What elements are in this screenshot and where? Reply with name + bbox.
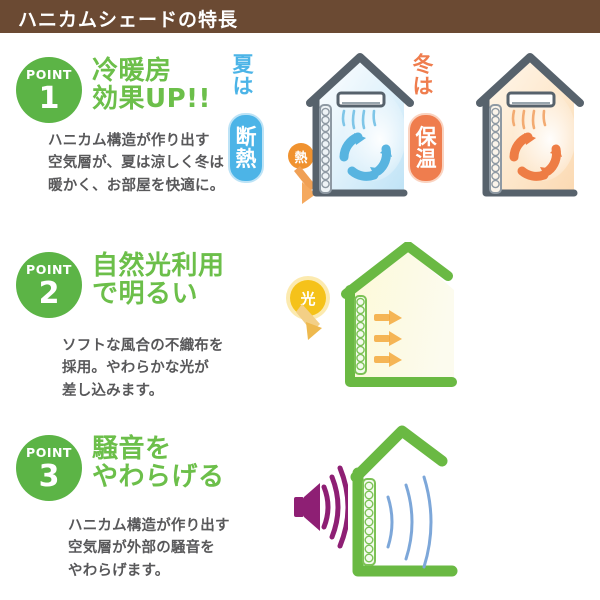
- insulation-pill: 断 熱: [228, 113, 264, 183]
- warmth-pill: 保 温: [408, 113, 444, 183]
- point-badge-2: POINT 2: [16, 252, 82, 318]
- point-section-2: POINT 2 自然光利用 で明るい ソフトな風合の不織布を 採用。やわらかな光…: [0, 240, 600, 425]
- point-headline-2: 自然光利用 で明るい: [92, 252, 225, 308]
- speaker-icon: [288, 435, 348, 575]
- infographic-page: ハニカムシェードの特長 POINT 1 冷暖房 効果UP!! ハニカム構造が作り…: [0, 0, 600, 600]
- body-line: 空気層が外部の騒音を: [68, 537, 230, 559]
- pill-char: 保: [416, 126, 437, 148]
- winter-label: 冬は: [411, 53, 433, 97]
- point-badge-1: POINT 1: [16, 57, 82, 123]
- summer-house: [300, 53, 420, 201]
- headline-line: で明るい: [92, 280, 225, 308]
- point-badge-number: 3: [16, 462, 82, 492]
- body-line: 採用。やわらかな光が: [62, 357, 224, 379]
- body-line: ハニカム構造が作り出す: [68, 515, 230, 537]
- headline-line: 冷暖房: [92, 57, 211, 85]
- point-badge-word: POINT: [16, 447, 82, 460]
- green-outline-house-noise: [340, 425, 490, 595]
- diffused-light-arrows: [374, 310, 402, 367]
- green-outline-house-light: [330, 242, 480, 402]
- point-badge-number: 1: [16, 84, 82, 114]
- body-line: 空気層が、夏は涼しく冬は: [48, 152, 224, 174]
- headline-line: 効果UP!!: [92, 85, 211, 113]
- point-badge-word: POINT: [16, 69, 82, 82]
- point-badge-number: 2: [16, 279, 82, 309]
- point-headline-3: 騒音を やわらげる: [92, 435, 225, 491]
- pill-char: 温: [416, 148, 437, 170]
- point-body-3: ハニカム構造が作り出す 空気層が外部の騒音を やわらげます。: [68, 515, 230, 582]
- point-badge-word: POINT: [16, 264, 82, 277]
- point-badge-3: POINT 3: [16, 435, 82, 501]
- body-line: 暖かく、お部屋を快適に。: [48, 175, 224, 197]
- headline-line: 騒音を: [92, 435, 225, 463]
- point-body-2: ソフトな風合の不織布を 採用。やわらかな光が 差し込みます。: [62, 335, 224, 402]
- muffled-noise-waves: [388, 477, 431, 567]
- point-body-1: ハニカム構造が作り出す 空気層が、夏は涼しく冬は 暖かく、お部屋を快適に。: [48, 130, 224, 197]
- winter-house: [470, 53, 590, 201]
- headline-line: やわらげる: [92, 463, 225, 491]
- point-headline-1: 冷暖房 効果UP!!: [92, 57, 211, 113]
- headline-line: 自然光利用: [92, 252, 225, 280]
- body-line: ソフトな風合の不織布を: [62, 335, 224, 357]
- pill-char: 断: [236, 126, 257, 148]
- body-line: 差し込みます。: [62, 380, 224, 402]
- summer-label: 夏は: [231, 53, 253, 97]
- page-title: ハニカムシェードの特長: [18, 5, 238, 32]
- body-line: やわらげます。: [68, 560, 230, 582]
- point-section-3: POINT 3 騒音を やわらげる ハニカム構造が作り出す 空気層が外部の騒音を…: [0, 425, 600, 600]
- body-line: ハニカム構造が作り出す: [48, 130, 224, 152]
- point-section-1: POINT 1 冷暖房 効果UP!! ハニカム構造が作り出す 空気層が、夏は涼し…: [0, 45, 600, 220]
- pill-char: 熱: [236, 148, 257, 170]
